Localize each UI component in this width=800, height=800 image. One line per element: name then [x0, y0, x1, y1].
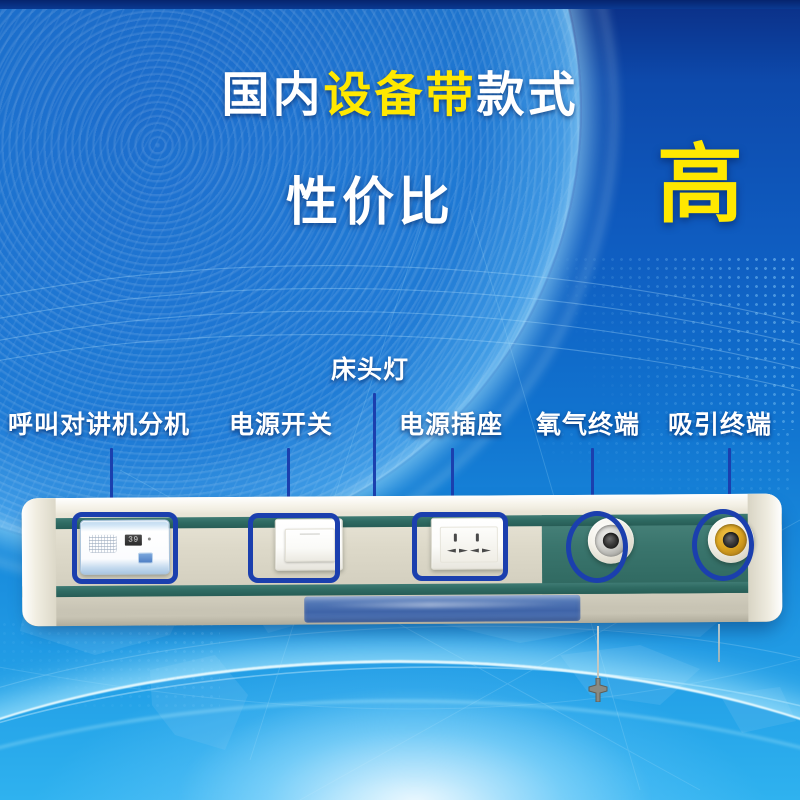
headline-part-equipment-belt: 设备带: [323, 69, 476, 122]
callout-label-suction: 吸引终端: [668, 413, 772, 438]
halftone-dots-left: [0, 620, 220, 710]
highlight-box-power-socket: [412, 512, 508, 581]
horizon-glow: [180, 690, 650, 800]
callout-label-oxygen: 氧气终端: [536, 413, 640, 438]
panel-end-cap-right: [748, 494, 783, 622]
callout-label-power-socket: 电源插座: [399, 413, 503, 438]
callout-label-power-switch: 电源开关: [229, 413, 333, 438]
headline-block: 国内设备带款式 性价比 高: [0, 72, 800, 120]
highlight-circle-suction: [692, 509, 754, 581]
panel-end-cap-left: [22, 498, 57, 626]
headline-part-style: 款式: [477, 69, 579, 122]
panel-stripe-bottom: [22, 582, 782, 598]
headline-value-ratio: 性价比: [286, 160, 454, 235]
callout-label-nurse-call: 呼叫对讲机分机: [8, 413, 190, 438]
callout-label-bed-lamp: 床头灯: [331, 358, 409, 383]
highlight-circle-oxygen: [566, 511, 628, 583]
top-edge-strip: [0, 0, 800, 9]
halftone-dots-right: [500, 255, 800, 430]
bed-lamp-diffuser[interactable]: [304, 595, 580, 623]
highlight-box-power-switch: [248, 513, 340, 583]
suction-pull-cord[interactable]: [718, 624, 720, 662]
halftone-dots-mid: [540, 430, 790, 490]
highlight-box-nurse-call: [72, 512, 178, 584]
headline-high: 高: [657, 142, 743, 228]
pull-cord-cross-fitting-icon: [586, 678, 610, 702]
promo-banner: 国内设备带款式 性价比 高 呼叫对讲机分机 电源开关 床头灯 电源插座 氧气终端…: [0, 0, 800, 800]
headline-line-1: 国内设备带款式: [0, 72, 800, 120]
headline-part-domestic: 国内: [221, 69, 323, 122]
